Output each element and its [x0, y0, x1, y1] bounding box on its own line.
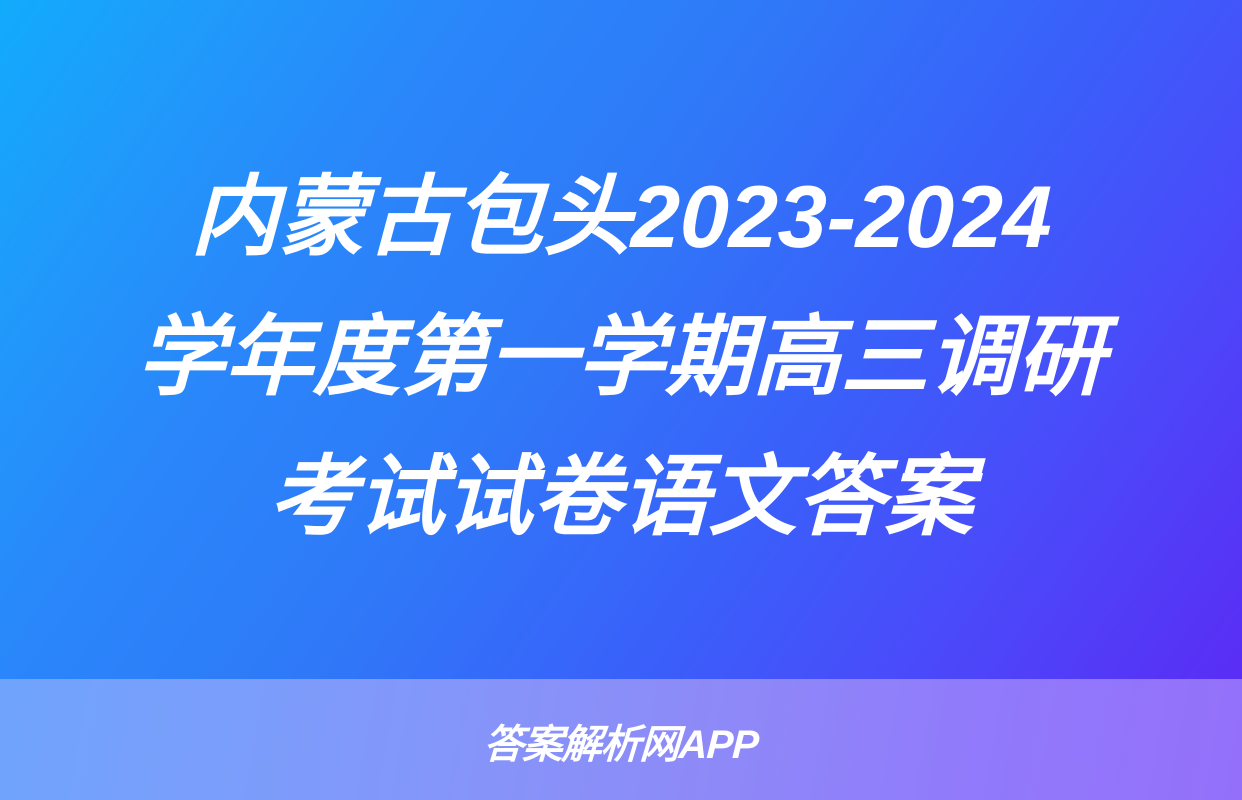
page-title: 内蒙古包头2023-2024 学年度第一学期高三调研 考试试卷语文答案: [0, 0, 1242, 679]
title-line-2: 学年度第一学期高三调研: [136, 287, 1106, 427]
title-line-1: 内蒙古包头2023-2024: [189, 147, 1052, 287]
watermark-text: 答案解析网APP: [482, 712, 759, 770]
title-line-3: 考试试卷语文答案: [268, 427, 974, 567]
promo-banner: 内蒙古包头2023-2024 学年度第一学期高三调研 考试试卷语文答案 答案解析…: [0, 0, 1242, 800]
footer-watermark-band: 答案解析网APP: [0, 679, 1242, 800]
